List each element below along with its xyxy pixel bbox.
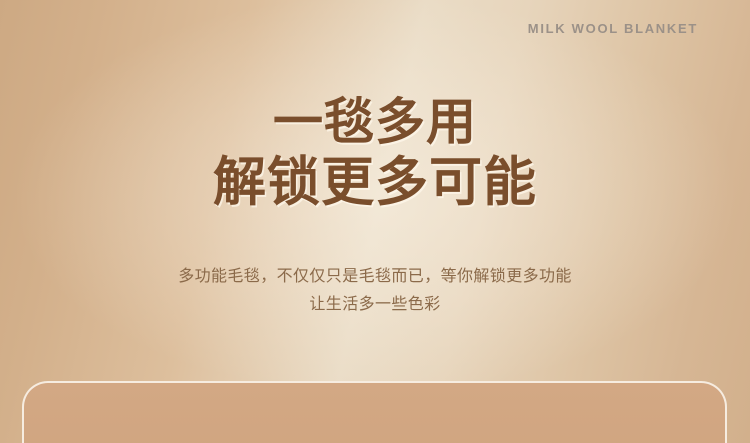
promo-banner: MILK WOOL BLANKET 一毯多用 解锁更多可能 多功能毛毯，不仅仅只… (0, 0, 750, 443)
subtitle-line-2: 让生活多一些色彩 (0, 291, 750, 319)
headline-block: 一毯多用 解锁更多可能 (0, 96, 750, 211)
brand-kicker: MILK WOOL BLANKET (528, 21, 698, 36)
subtitle-line-1: 多功能毛毯，不仅仅只是毛毯而已，等你解锁更多功能 (0, 263, 750, 291)
headline-line-1: 一毯多用 (0, 96, 750, 149)
subtitle-block: 多功能毛毯，不仅仅只是毛毯而已，等你解锁更多功能 让生活多一些色彩 (0, 263, 750, 319)
headline-line-2: 解锁更多可能 (0, 155, 750, 211)
bottom-content-card (22, 381, 727, 443)
